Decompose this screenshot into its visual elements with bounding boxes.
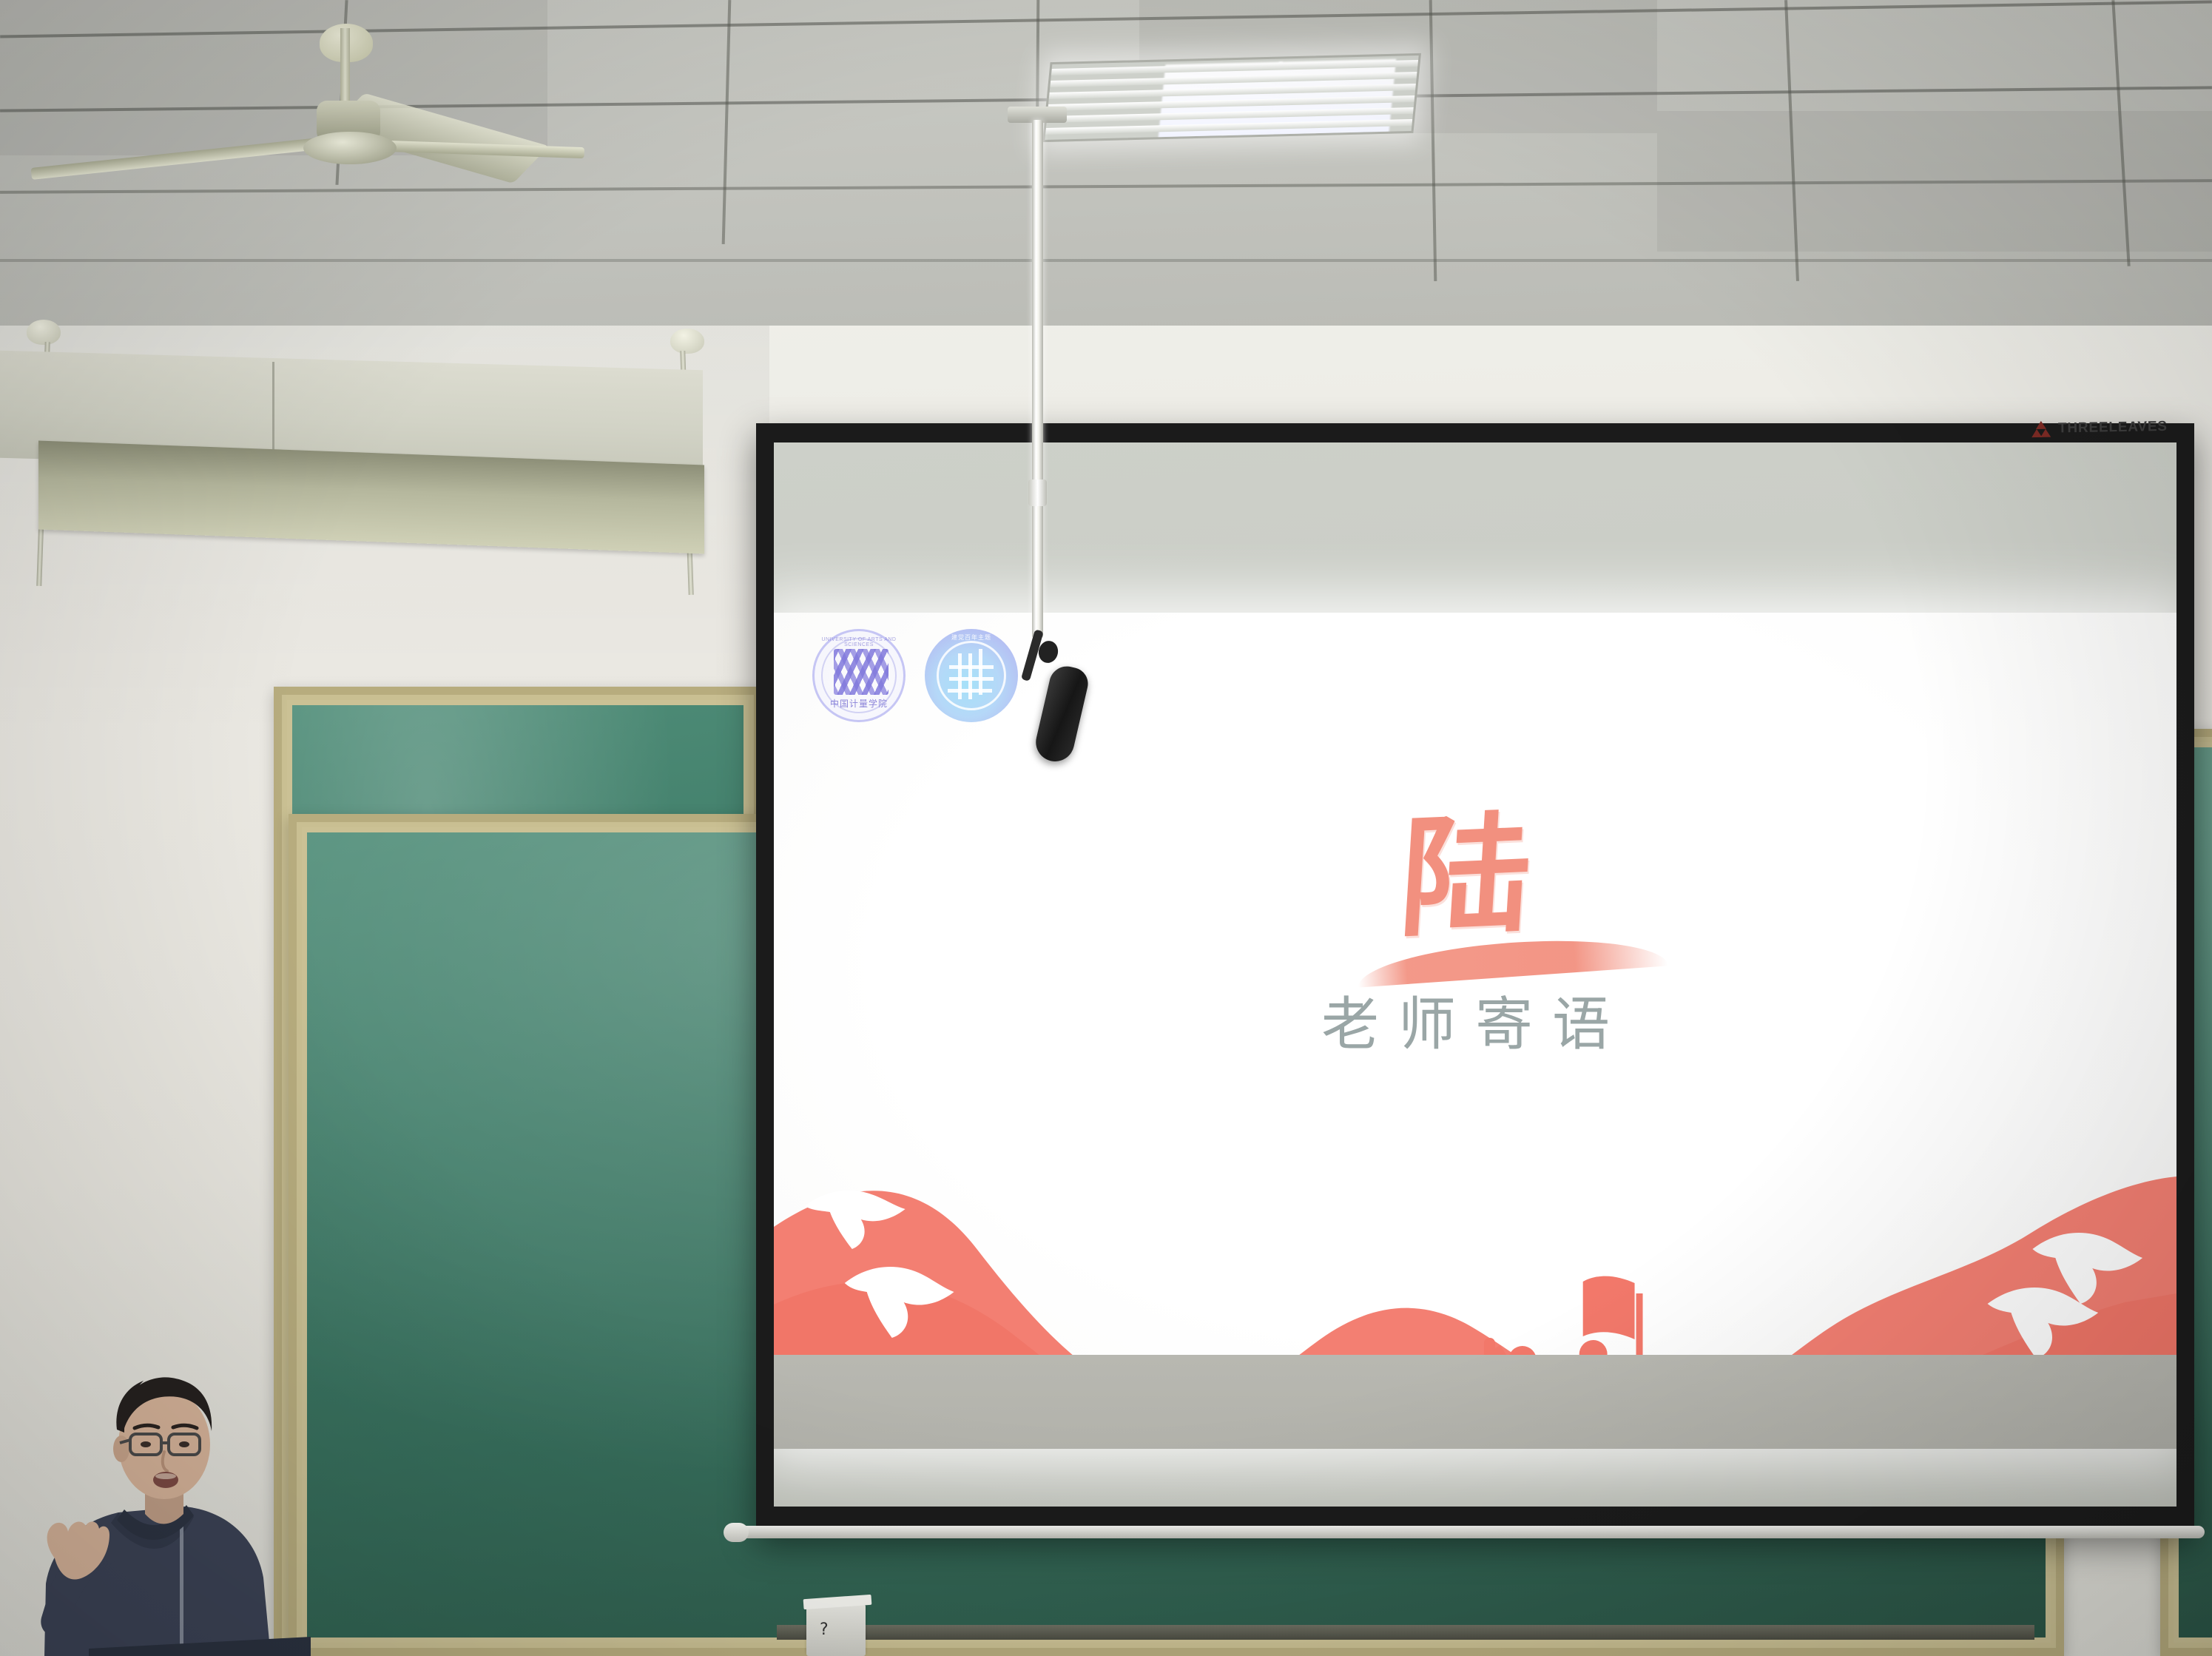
chalk-box-mark: ? — [820, 1620, 829, 1639]
chalk-box: ? — [806, 1604, 866, 1656]
projector-brand-label: THREELEAVES — [2058, 419, 2168, 437]
classroom-scene: UNIVERSITY OF ARTS AND SCIENCES 中国计量学院 建… — [0, 0, 2212, 1656]
slide-headline: 陆 — [1396, 808, 1554, 945]
slide-subtitle: 老师寄语 — [1321, 996, 1629, 1054]
slide-subtitle-area: 老师寄语 — [774, 996, 2176, 1054]
university-seal-logo: UNIVERSITY OF ARTS AND SCIENCES 中国计量学院 — [812, 629, 906, 722]
projector-brand-plate: THREELEAVES — [2031, 410, 2212, 445]
circular-emblem-logo: 建党百年主题 — [925, 629, 1018, 722]
mic-pole — [1032, 120, 1043, 638]
seal-rim-text-en: UNIVERSITY OF ARTS AND SCIENCES — [815, 637, 903, 647]
screen-surface: UNIVERSITY OF ARTS AND SCIENCES 中国计量学院 建… — [774, 442, 2176, 1507]
three-diamond-logo — [2031, 421, 2051, 437]
fluorescent-ceiling-light — [1042, 53, 1421, 142]
lecturer — [0, 1362, 414, 1656]
chalk-ledge — [777, 1625, 2034, 1640]
slide-logos: UNIVERSITY OF ARTS AND SCIENCES 中国计量学院 建… — [812, 629, 1018, 722]
screen-weight-bar — [732, 1526, 2205, 1538]
projection-screen: UNIVERSITY OF ARTS AND SCIENCES 中国计量学院 建… — [756, 423, 2194, 1532]
slide-headline-area: 陆 — [774, 811, 2176, 941]
slide-bottom-strip — [774, 1355, 2176, 1449]
wave-lattice-mark — [834, 649, 888, 695]
screen-bar-knob — [724, 1523, 749, 1542]
mic-pole-collar — [1028, 479, 1047, 506]
projected-slide: UNIVERSITY OF ARTS AND SCIENCES 中国计量学院 建… — [774, 613, 2176, 1449]
emblem-rim-text: 建党百年主题 — [925, 633, 1018, 642]
seal-rim-text-cn: 中国计量学院 — [815, 697, 903, 710]
